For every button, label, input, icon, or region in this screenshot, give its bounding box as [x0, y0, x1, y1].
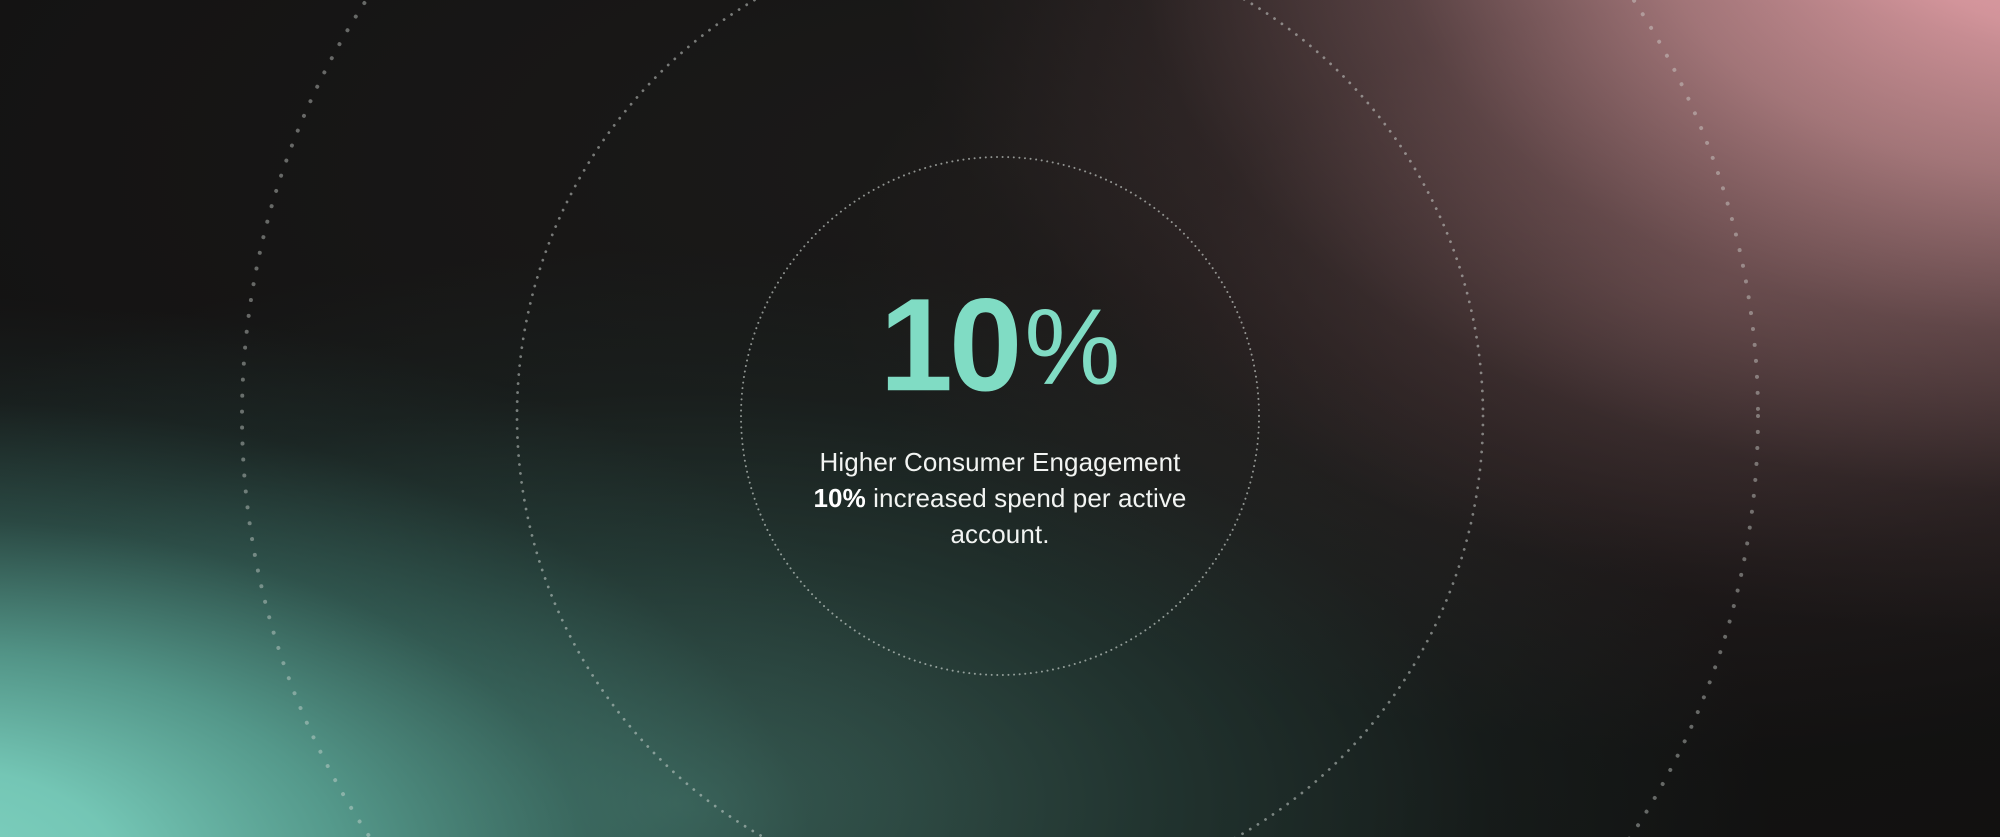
stat-caption: Higher Consumer Engagement 10% increased… — [810, 445, 1190, 553]
stat-percent-symbol: % — [1024, 286, 1120, 407]
stat-block: 10% Higher Consumer Engagement 10% incre… — [740, 279, 1260, 553]
stat-value: 10 — [880, 271, 1019, 418]
hero-stage: 10% Higher Consumer Engagement 10% incre… — [0, 0, 2000, 837]
caption-lead: Higher Consumer Engagement — [819, 447, 1180, 477]
stat-headline: 10% — [740, 279, 1260, 411]
caption-tail: increased spend per active account. — [866, 483, 1187, 549]
caption-emphasis: 10% — [813, 483, 865, 513]
